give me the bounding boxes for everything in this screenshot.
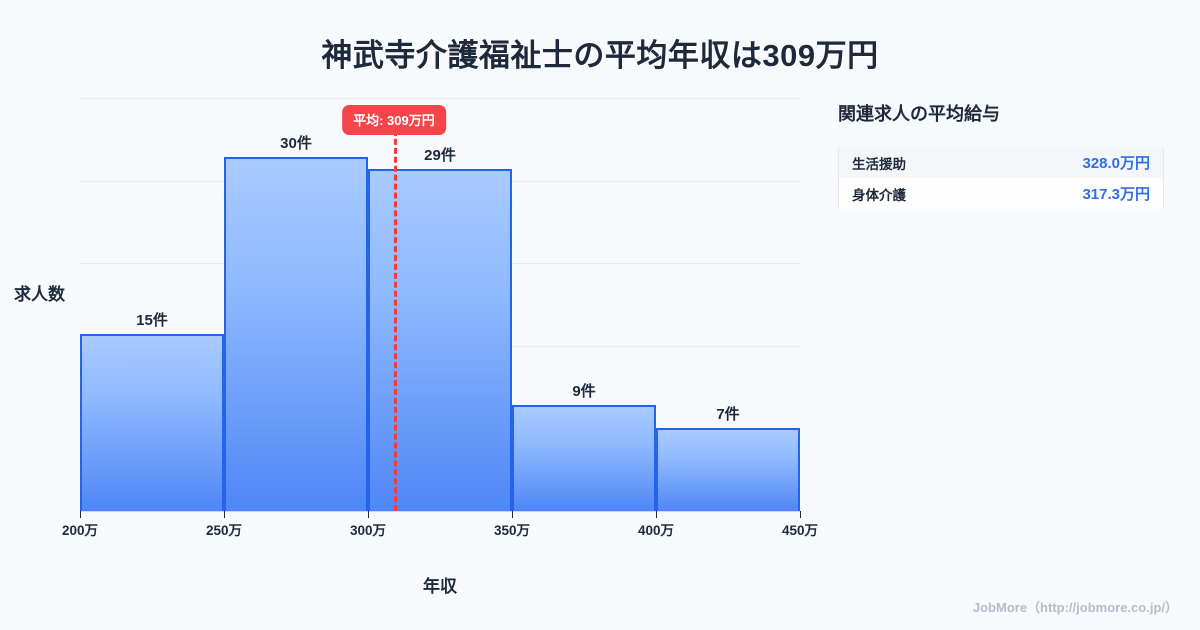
average-salary-badge: 平均: 309万円	[342, 105, 446, 135]
x-axis-tick-label: 300万	[350, 519, 386, 539]
job-average-salary: 328.0万円	[986, 147, 1163, 178]
footer-credit: JobMore（http://jobmore.co.jp/）	[973, 597, 1178, 616]
gridline	[80, 98, 800, 99]
x-axis-tick-label: 450万	[782, 519, 818, 539]
bar-value-label: 29件	[368, 144, 512, 165]
page-title: 神武寺介護福祉士の平均年収は309万円	[0, 30, 1200, 75]
related-jobs-table: 生活援助328.0万円身体介護317.3万円	[838, 147, 1164, 209]
histogram-bar[interactable]	[224, 157, 368, 511]
x-axis-tick-label: 400万	[638, 519, 674, 539]
related-jobs-panel: 関連求人の平均給与 生活援助328.0万円身体介護317.3万円	[838, 100, 1164, 209]
histogram-bar[interactable]	[368, 169, 512, 511]
table-row[interactable]: 身体介護317.3万円	[839, 178, 1164, 209]
x-axis-tick-mark	[800, 511, 801, 518]
job-average-salary: 317.3万円	[986, 178, 1163, 209]
x-axis-tick-label: 250万	[206, 519, 242, 539]
bar-value-label: 30件	[224, 132, 368, 153]
histogram-bar[interactable]	[512, 405, 656, 511]
histogram-bar[interactable]	[656, 428, 800, 511]
job-category-name: 生活援助	[839, 147, 987, 178]
x-axis-tick-mark	[224, 511, 225, 518]
bar-value-label: 7件	[656, 403, 800, 424]
histogram-bar[interactable]	[80, 334, 224, 511]
job-category-name: 身体介護	[839, 178, 987, 209]
y-axis-title: 求人数	[14, 280, 65, 305]
x-axis-tick-mark	[512, 511, 513, 518]
x-axis-baseline	[80, 511, 800, 512]
x-axis-tick-mark	[368, 511, 369, 518]
x-axis-tick-label: 350万	[494, 519, 530, 539]
x-axis-tick-mark	[80, 511, 81, 518]
x-axis-tick-label: 200万	[62, 519, 98, 539]
x-axis-tick-mark	[656, 511, 657, 518]
related-jobs-panel-title: 関連求人の平均給与	[838, 100, 1164, 126]
x-axis-title: 年収	[80, 572, 800, 597]
bar-value-label: 9件	[512, 380, 656, 401]
table-row[interactable]: 生活援助328.0万円	[839, 147, 1164, 178]
bar-value-label: 15件	[80, 309, 224, 330]
average-salary-line	[394, 130, 397, 511]
